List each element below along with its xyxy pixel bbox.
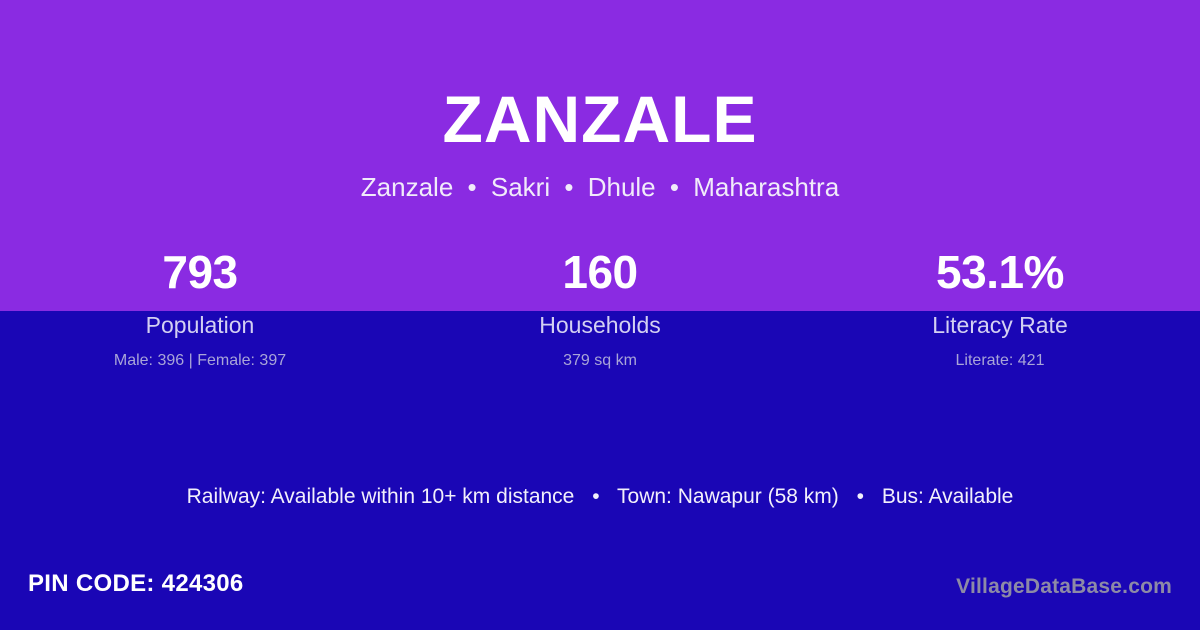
stat-sublabel: Literate: 421 [800,353,1200,369]
infrastructure-row: Railway: Available within 10+ km distanc… [0,486,1200,507]
stat-sublabel: 379 sq km [400,353,800,369]
breadcrumb-state: Maharashtra [693,172,839,202]
pin-code-label: PIN CODE: 424306 [28,572,244,596]
stat-households: 160 Households 379 sq km [400,248,800,369]
infra-town: Town: Nawapur (58 km) [617,485,839,508]
stat-population: 793 Population Male: 396 | Female: 397 [0,248,400,369]
stat-label: Population [0,314,400,337]
stat-literacy-rate: 53.1% Literacy Rate Literate: 421 [800,248,1200,369]
stat-value: 160 [400,248,800,298]
infra-bus: Bus: Available [882,485,1014,508]
stat-label: Literacy Rate [800,314,1200,337]
infra-separator: • [592,486,599,507]
breadcrumb-village: Zanzale [361,172,454,202]
breadcrumb-separator: • [468,174,477,200]
stat-sublabel: Male: 396 | Female: 397 [0,353,400,369]
card-footer: PIN CODE: 424306 VillageDataBase.com [0,558,1200,630]
breadcrumb-separator: • [564,174,573,200]
stat-value: 53.1% [800,248,1200,298]
card-header: ZANZALE Zanzale • Sakri • Dhule • Mahara… [0,0,1200,200]
page-title: ZANZALE [0,86,1200,152]
infra-separator: • [857,486,864,507]
village-info-card: ZANZALE Zanzale • Sakri • Dhule • Mahara… [0,0,1200,630]
site-brand: VillageDataBase.com [956,576,1172,597]
infra-railway: Railway: Available within 10+ km distanc… [187,485,575,508]
breadcrumb: Zanzale • Sakri • Dhule • Maharashtra [0,174,1200,200]
breadcrumb-district: Dhule [588,172,656,202]
breadcrumb-block: Sakri [491,172,550,202]
breadcrumb-separator: • [670,174,679,200]
stat-value: 793 [0,248,400,298]
stats-row: 793 Population Male: 396 | Female: 397 1… [0,248,1200,369]
stat-label: Households [400,314,800,337]
